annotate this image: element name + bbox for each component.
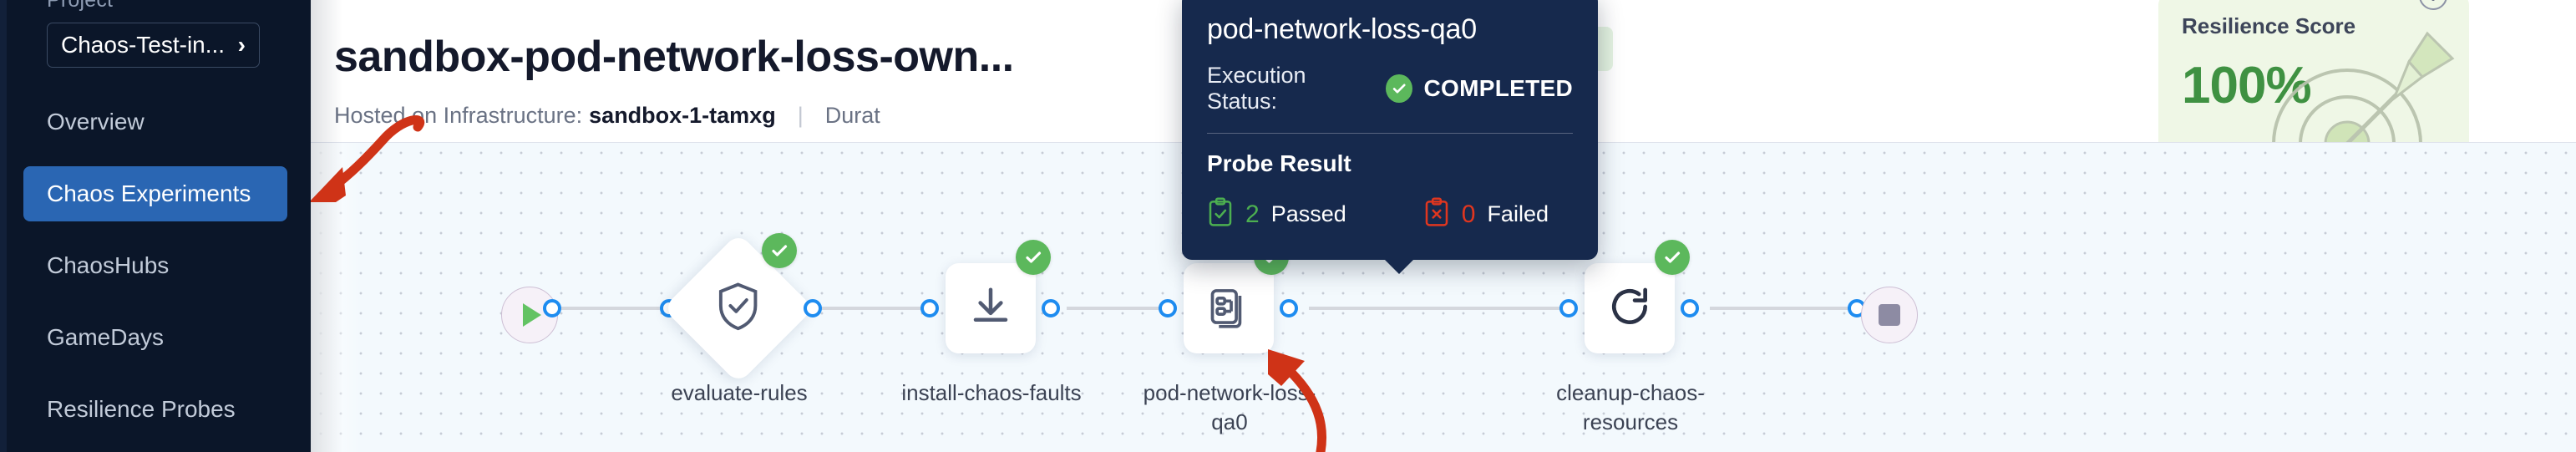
edge-evaluate-rules-to-install [812, 307, 929, 310]
pipeline-node-cleanup-chaos-resources[interactable] [1585, 263, 1675, 353]
chaos-fault-icon [1207, 285, 1250, 333]
probe-failed: 0 Failed [1423, 197, 1549, 231]
probe-failed-label: Failed [1487, 201, 1549, 227]
port-cleanup-chaos-resources-out[interactable] [1681, 299, 1699, 317]
probe-passed: 2 Passed [1207, 197, 1346, 231]
probe-passed-count: 2 [1245, 201, 1260, 229]
pipeline-node-install-chaos-faults[interactable] [946, 263, 1036, 353]
edge-install-to-podnetworkloss [1067, 307, 1167, 310]
sidebar-accent-bar [0, 0, 7, 452]
sidebar-item-gamedays[interactable]: GameDays [23, 310, 287, 365]
port-pod-network-loss-in[interactable] [1159, 299, 1177, 317]
status-success-icon-cleanup-chaos-resources [1655, 240, 1690, 275]
tooltip-probe-counts: 2 Passed 0 Failed [1207, 197, 1573, 231]
infrastructure-value[interactable]: sandbox-1-tamxg [589, 103, 776, 129]
shield-check-icon [715, 282, 762, 336]
duration-label: Durat [825, 103, 880, 129]
port-install-chaos-faults-out[interactable] [1042, 299, 1060, 317]
stop-icon [1879, 304, 1900, 326]
main-content: sandbox-pod-network-loss-own... Hosted o… [311, 0, 2576, 452]
check-circle-icon [1386, 74, 1412, 103]
tooltip-arrow [1384, 259, 1414, 274]
probe-failed-count: 0 [1462, 201, 1476, 229]
refresh-icon [1606, 283, 1653, 334]
port-pod-network-loss-out[interactable] [1280, 299, 1298, 317]
pipeline-end-node[interactable] [1861, 287, 1918, 343]
canvas-left-fade [311, 143, 361, 452]
port-evaluate-rules-out[interactable] [804, 299, 822, 317]
infrastructure-label: Hosted on Infrastructure: [334, 103, 582, 129]
tooltip-status-value: COMPLETED [1424, 75, 1573, 102]
sidebar-item-resilience-probes[interactable]: Resilience Probes [23, 382, 287, 437]
tooltip-divider [1207, 133, 1573, 134]
edge-cleanup-to-end [1710, 307, 1856, 310]
pipeline-node-pod-network-loss-qa0[interactable] [1184, 263, 1274, 353]
meta-separator: | [798, 103, 804, 129]
sidebar-item-chaos-experiments[interactable]: Chaos Experiments [23, 166, 287, 221]
download-icon [968, 284, 1013, 333]
sidebar: Project Chaos-Test-in... › Overview Chao… [0, 0, 311, 452]
node-label-install-chaos-faults: install-chaos-faults [895, 378, 1088, 408]
tooltip-title: pod-network-loss-qa0 [1207, 13, 1573, 46]
node-tooltip: pod-network-loss-qa0 Execution Status: C… [1182, 0, 1598, 260]
tooltip-execution-status: Execution Status: COMPLETED [1207, 63, 1573, 114]
clipboard-x-icon [1423, 197, 1450, 231]
port-install-chaos-faults-in[interactable] [920, 299, 939, 317]
sidebar-item-label: GameDays [47, 324, 164, 351]
node-label-pod-network-loss-qa0: pod-network-loss-qa0 [1133, 378, 1326, 437]
node-label-evaluate-rules: evaluate-rules [643, 378, 835, 408]
tooltip-status-label: Execution Status: [1207, 63, 1371, 114]
sidebar-item-label: Resilience Probes [47, 396, 236, 423]
tooltip-probe-result-title: Probe Result [1207, 150, 1573, 177]
chevron-right-icon: › [238, 33, 246, 57]
info-icon[interactable]: i [2419, 0, 2447, 10]
port-start-out[interactable] [543, 299, 561, 317]
sidebar-nav: Overview Chaos Experiments ChaosHubs Gam… [0, 94, 311, 452]
sidebar-item-label: Overview [47, 109, 145, 135]
play-icon [523, 303, 541, 327]
clipboard-check-icon [1207, 197, 1234, 231]
project-selector-value: Chaos-Test-in... [61, 32, 225, 58]
sidebar-item-label: Chaos Experiments [47, 180, 251, 207]
status-success-icon-evaluate-rules [762, 233, 797, 268]
probe-passed-label: Passed [1271, 201, 1346, 227]
edge-podnetworkloss-to-cleanup [1309, 307, 1568, 310]
sidebar-item-label: ChaosHubs [47, 252, 169, 279]
port-cleanup-chaos-resources-in[interactable] [1559, 299, 1578, 317]
sidebar-item-overview[interactable]: Overview [23, 94, 287, 150]
project-label: Project [0, 0, 311, 13]
status-success-icon-install-chaos-faults [1016, 240, 1051, 275]
edge-start-to-evaluate-rules [551, 307, 668, 310]
project-selector[interactable]: Chaos-Test-in... › [47, 23, 260, 68]
node-label-cleanup-chaos-resources: cleanup-chaos-resources [1534, 378, 1727, 437]
sidebar-item-chaoshubs[interactable]: ChaosHubs [23, 238, 287, 293]
